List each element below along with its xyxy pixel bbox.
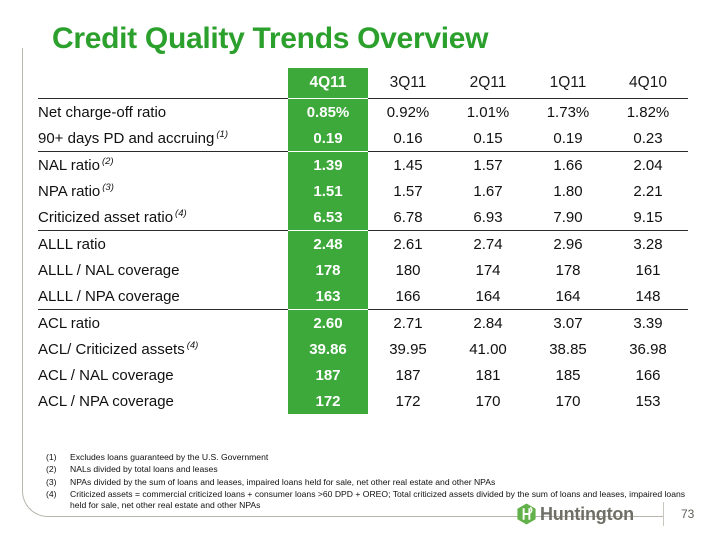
table-cell: 166 [608, 362, 688, 388]
table-cell: 6.78 [368, 204, 448, 231]
column-header-2q11: 2Q11 [448, 68, 528, 99]
table-cell: 2.96 [528, 231, 608, 258]
table-cell: 181 [448, 362, 528, 388]
huntington-hexagon-icon [516, 503, 537, 525]
table-cell: 36.98 [608, 336, 688, 362]
footnote-item: (2)NALs divided by total loans and lease… [46, 464, 691, 475]
row-footnote-marker: (4) [175, 208, 187, 219]
row-label-text: ACL / NPA coverage [38, 393, 174, 410]
row-label-text: 90+ days PD and accruing [38, 130, 214, 147]
row-label: ACL/ Criticized assets(4) [38, 336, 288, 362]
table-cell: 2.48 [288, 231, 368, 258]
table-cell: 2.61 [368, 231, 448, 258]
table-cell: 7.90 [528, 204, 608, 231]
table-cell: 0.19 [528, 125, 608, 152]
row-label: ACL / NPA coverage [38, 388, 288, 414]
table-cell: 153 [608, 388, 688, 414]
row-label: ALLL ratio [38, 231, 288, 258]
footnote-text: Excludes loans guaranteed by the U.S. Go… [70, 452, 691, 463]
column-header-4q11: 4Q11 [288, 68, 368, 99]
table-row: ACL ratio2.602.712.843.073.39 [38, 310, 688, 337]
table-cell: 172 [288, 388, 368, 414]
row-label: Net charge-off ratio [38, 99, 288, 126]
table-cell: 41.00 [448, 336, 528, 362]
table-cell: 0.16 [368, 125, 448, 152]
table-cell: 1.51 [288, 178, 368, 204]
table-row: ACL/ Criticized assets(4)39.8639.9541.00… [38, 336, 688, 362]
footnote-number: (2) [46, 464, 70, 475]
table-cell: 1.39 [288, 152, 368, 179]
row-label-text: ALLL ratio [38, 236, 106, 253]
table-cell: 9.15 [608, 204, 688, 231]
row-label: NPA ratio(3) [38, 178, 288, 204]
table-cell: 2.74 [448, 231, 528, 258]
table-cell: 6.53 [288, 204, 368, 231]
table-cell: 1.01% [448, 99, 528, 126]
row-label-text: ACL ratio [38, 315, 100, 332]
table-body: Net charge-off ratio0.85%0.92%1.01%1.73%… [38, 99, 688, 415]
table-cell: 38.85 [528, 336, 608, 362]
table-cell: 1.57 [368, 178, 448, 204]
footer-divider [663, 502, 664, 526]
table-cell: 166 [368, 283, 448, 310]
row-label: ALLL / NPA coverage [38, 283, 288, 310]
table-row: ACL / NPA coverage172172170170153 [38, 388, 688, 414]
table-row: ALLL ratio2.482.612.742.963.28 [38, 231, 688, 258]
table-cell: 163 [288, 283, 368, 310]
header-label-spacer [38, 68, 288, 99]
slide-canvas: Credit Quality Trends Overview 4Q113Q112… [0, 0, 720, 540]
table-cell: 2.71 [368, 310, 448, 337]
table-header: 4Q113Q112Q111Q114Q10 [38, 68, 688, 99]
table-cell: 1.80 [528, 178, 608, 204]
row-label-text: NPA ratio [38, 183, 100, 200]
table-row: ALLL / NAL coverage178180174178161 [38, 257, 688, 283]
table-cell: 2.04 [608, 152, 688, 179]
table-cell: 187 [288, 362, 368, 388]
huntington-wordmark: Huntington [540, 505, 634, 523]
row-label: ALLL / NAL coverage [38, 257, 288, 283]
row-label-text: Net charge-off ratio [38, 104, 166, 121]
table-cell: 1.67 [448, 178, 528, 204]
row-label-text: ALLL / NPA coverage [38, 288, 180, 305]
table-cell: 2.21 [608, 178, 688, 204]
footnote-text: NALs divided by total loans and leases [70, 464, 691, 475]
table-cell: 2.60 [288, 310, 368, 337]
table-cell: 0.92% [368, 99, 448, 126]
table-cell: 2.84 [448, 310, 528, 337]
table-row: NPA ratio(3)1.511.571.671.802.21 [38, 178, 688, 204]
row-footnote-marker: (4) [187, 340, 199, 351]
row-label: ACL / NAL coverage [38, 362, 288, 388]
table-cell: 3.39 [608, 310, 688, 337]
table-cell: 0.23 [608, 125, 688, 152]
row-label-text: NAL ratio [38, 157, 100, 174]
footer-rule [484, 516, 514, 517]
table-cell: 187 [368, 362, 448, 388]
page-title: Credit Quality Trends Overview [52, 22, 488, 56]
table-cell: 178 [288, 257, 368, 283]
footnote-number: (4) [46, 489, 70, 512]
row-label-text: ALLL / NAL coverage [38, 262, 179, 279]
table-cell: 1.82% [608, 99, 688, 126]
footnote-number: (1) [46, 452, 70, 463]
table-cell: 6.93 [448, 204, 528, 231]
column-header-3q11: 3Q11 [368, 68, 448, 99]
table-cell: 0.19 [288, 125, 368, 152]
table-cell: 1.73% [528, 99, 608, 126]
table-cell: 39.95 [368, 336, 448, 362]
table-cell: 170 [448, 388, 528, 414]
table-cell: 3.07 [528, 310, 608, 337]
footnote-number: (3) [46, 477, 70, 488]
row-label-text: ACL/ Criticized assets [38, 341, 185, 358]
table-cell: 3.28 [608, 231, 688, 258]
table-row: Net charge-off ratio0.85%0.92%1.01%1.73%… [38, 99, 688, 126]
row-label-text: Criticized asset ratio [38, 209, 173, 226]
column-header-4q10: 4Q10 [608, 68, 688, 99]
row-label: 90+ days PD and accruing(1) [38, 125, 288, 152]
credit-quality-table-container: 4Q113Q112Q111Q114Q10 Net charge-off rati… [38, 68, 688, 414]
row-label: Criticized asset ratio(4) [38, 204, 288, 231]
row-label: ACL ratio [38, 310, 288, 337]
row-label: NAL ratio(2) [38, 152, 288, 179]
table-cell: 39.86 [288, 336, 368, 362]
table-cell: 161 [608, 257, 688, 283]
table-cell: 164 [528, 283, 608, 310]
table-cell: 0.15 [448, 125, 528, 152]
table-cell: 180 [368, 257, 448, 283]
table-cell: 0.85% [288, 99, 368, 126]
table-cell: 172 [368, 388, 448, 414]
table-row: NAL ratio(2)1.391.451.571.662.04 [38, 152, 688, 179]
table-cell: 164 [448, 283, 528, 310]
table-row: ALLL / NPA coverage163166164164148 [38, 283, 688, 310]
table-cell: 1.66 [528, 152, 608, 179]
footnote-item: (1)Excludes loans guaranteed by the U.S.… [46, 452, 691, 463]
footnote-item: (3)NPAs divided by the sum of loans and … [46, 477, 691, 488]
table-row: Criticized asset ratio(4)6.536.786.937.9… [38, 204, 688, 231]
row-footnote-marker: (1) [216, 129, 228, 140]
row-footnote-marker: (2) [102, 156, 114, 167]
page-number: 73 [681, 507, 694, 521]
table-cell: 170 [528, 388, 608, 414]
credit-quality-table: 4Q113Q112Q111Q114Q10 Net charge-off rati… [38, 68, 688, 414]
table-row: 90+ days PD and accruing(1)0.190.160.150… [38, 125, 688, 152]
column-header-1q11: 1Q11 [528, 68, 608, 99]
table-cell: 185 [528, 362, 608, 388]
row-footnote-marker: (3) [102, 182, 114, 193]
table-cell: 1.57 [448, 152, 528, 179]
row-label-text: ACL / NAL coverage [38, 367, 174, 384]
table-row: ACL / NAL coverage187187181185166 [38, 362, 688, 388]
table-cell: 174 [448, 257, 528, 283]
table-cell: 1.45 [368, 152, 448, 179]
table-header-row: 4Q113Q112Q111Q114Q10 [38, 68, 688, 99]
huntington-logo: Huntington [516, 503, 634, 525]
footnote-text: NPAs divided by the sum of loans and lea… [70, 477, 691, 488]
table-cell: 148 [608, 283, 688, 310]
table-cell: 178 [528, 257, 608, 283]
